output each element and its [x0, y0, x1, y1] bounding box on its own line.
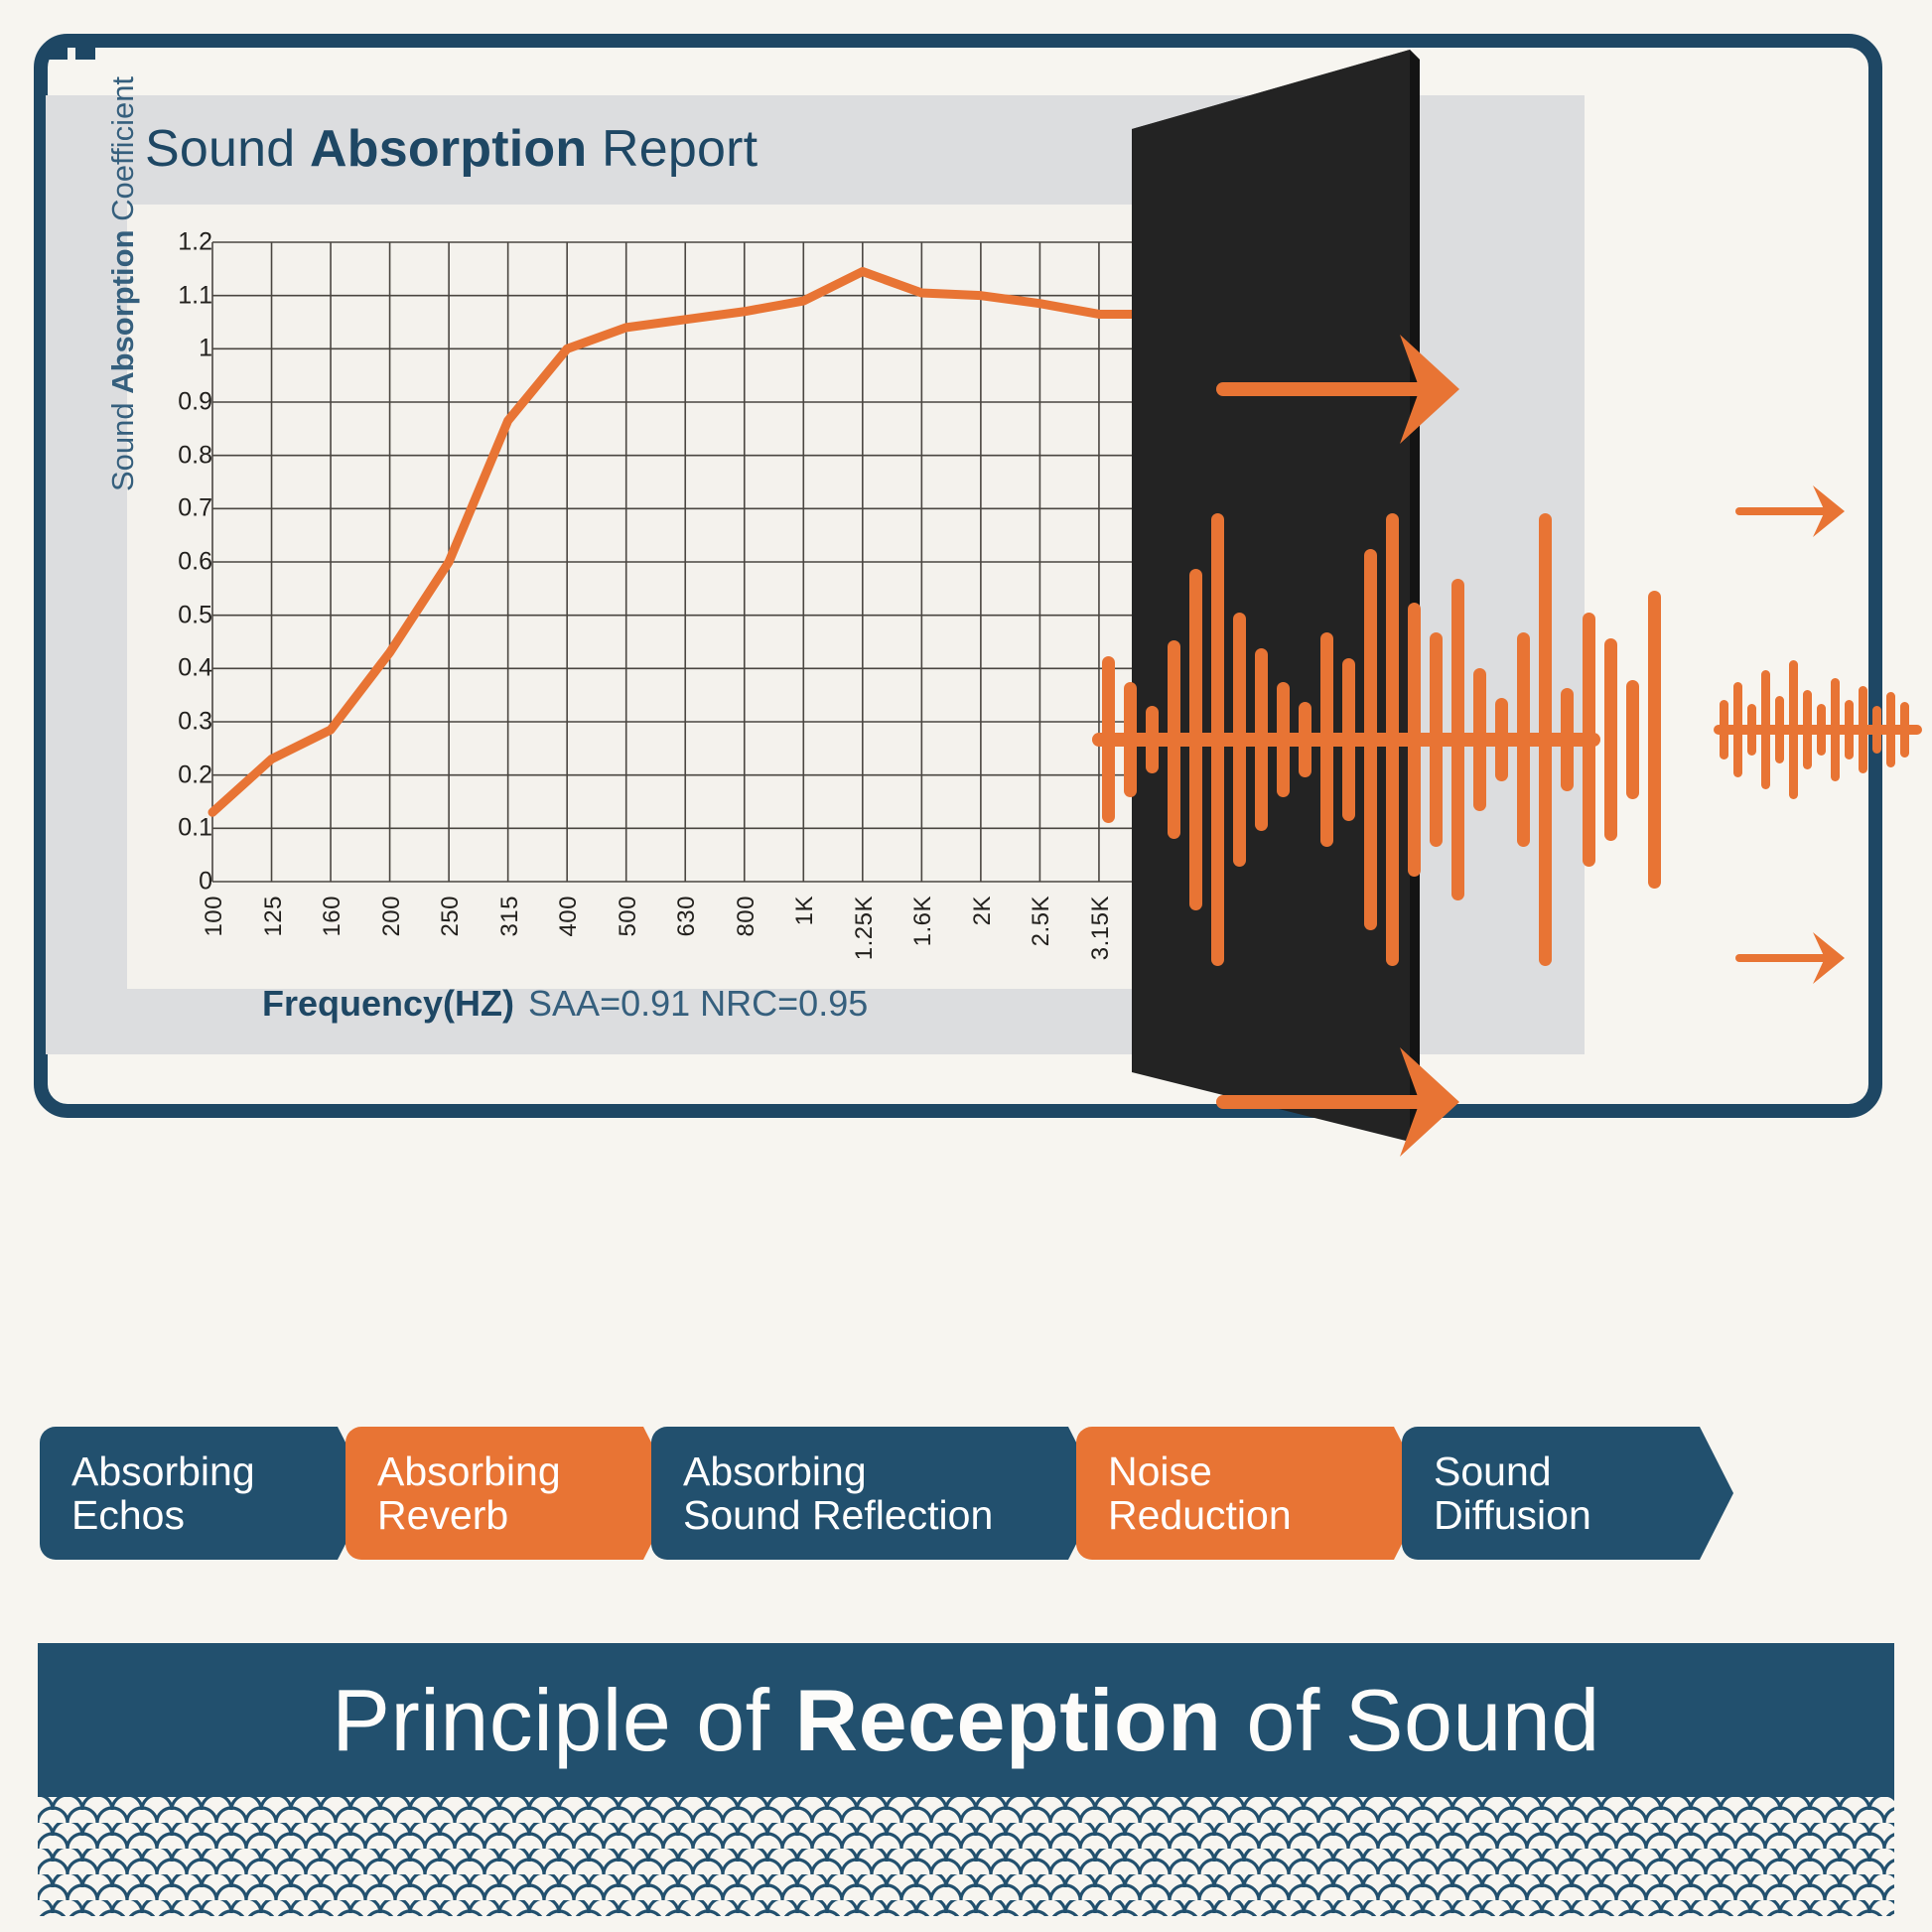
ribbon-chip-label: Absorbing Sound Reflection [683, 1449, 993, 1538]
banner-title-pre: Principle of [332, 1671, 794, 1769]
panel-side-face [1410, 50, 1420, 1142]
x-tick-label: 500 [615, 896, 642, 937]
infographic-root: Sound Absorption Report Sound Absorption… [0, 0, 1932, 1932]
x-tick-label: 100 [201, 896, 228, 937]
ribbon-chip-label: Noise Reduction [1108, 1449, 1292, 1538]
panel-front-face [1132, 50, 1410, 1142]
corner-dot-2 [75, 46, 95, 60]
report-title-pre: Sound [145, 120, 310, 178]
ribbon-chip-label: Sound Diffusion [1434, 1449, 1591, 1538]
absorption-line-chart: Sound Absorption Coefficient 00.10.20.30… [127, 205, 1225, 989]
acoustic-panel-graphic [1122, 40, 1678, 1162]
banner-title-post: of Sound [1221, 1671, 1599, 1769]
report-title-post: Report [587, 120, 758, 178]
scallop-pattern [38, 1797, 1894, 1916]
absorption-curve [212, 272, 1217, 813]
ribbon-chip-label: Absorbing Echos [71, 1449, 255, 1538]
acoustic-panel-svg [1122, 40, 1678, 1162]
banner-title-bold: Reception [795, 1671, 1222, 1769]
x-tick-label: 160 [319, 896, 346, 937]
x-tick-label: 200 [378, 896, 406, 937]
chart-plot-panel: Sound Absorption Coefficient 00.10.20.30… [127, 205, 1225, 989]
feature-ribbon: Absorbing EchosAbsorbing ReverbAbsorbing… [40, 1427, 1892, 1560]
corner-dot-1 [48, 46, 68, 60]
x-tick-label: 1.25K [851, 896, 879, 960]
report-title: Sound Absorption Report [145, 119, 758, 179]
x-tick-label: 2K [969, 896, 997, 925]
x-tick-label: 3.15K [1087, 896, 1115, 960]
x-tick-label: 630 [673, 896, 701, 937]
ribbon-chip-3[interactable]: Absorbing Sound Reflection [651, 1427, 1102, 1560]
ribbon-chip-4[interactable]: Noise Reduction [1076, 1427, 1428, 1560]
ribbon-chip-1[interactable]: Absorbing Echos [40, 1427, 371, 1560]
x-tick-label: 800 [733, 896, 760, 937]
ribbon-chip-2[interactable]: Absorbing Reverb [345, 1427, 677, 1560]
x-tick-label: 1K [791, 896, 819, 925]
ribbon-chip-label: Absorbing Reverb [377, 1449, 561, 1538]
acoustic-stats: SAA=0.91 NRC=0.95 [528, 983, 868, 1024]
x-tick-label: 250 [437, 896, 465, 937]
x-tick-label: 400 [555, 896, 583, 937]
banner-title: Principle of Reception of Sound [332, 1670, 1599, 1771]
chart-svg [127, 205, 1225, 989]
ribbon-chip-5[interactable]: Sound Diffusion [1402, 1427, 1733, 1560]
frequency-footer: Frequency(HZ)SAA=0.91 NRC=0.95 [262, 983, 868, 1025]
bottom-banner: Principle of Reception of Sound [38, 1643, 1894, 1797]
x-tick-label: 125 [260, 896, 288, 937]
frequency-label: Frequency(HZ) [262, 983, 514, 1024]
x-tick-label: 2.5K [1028, 896, 1055, 946]
report-title-bold: Absorption [310, 120, 587, 178]
x-tick-label: 1.6K [909, 896, 937, 946]
x-tick-label: 315 [496, 896, 524, 937]
